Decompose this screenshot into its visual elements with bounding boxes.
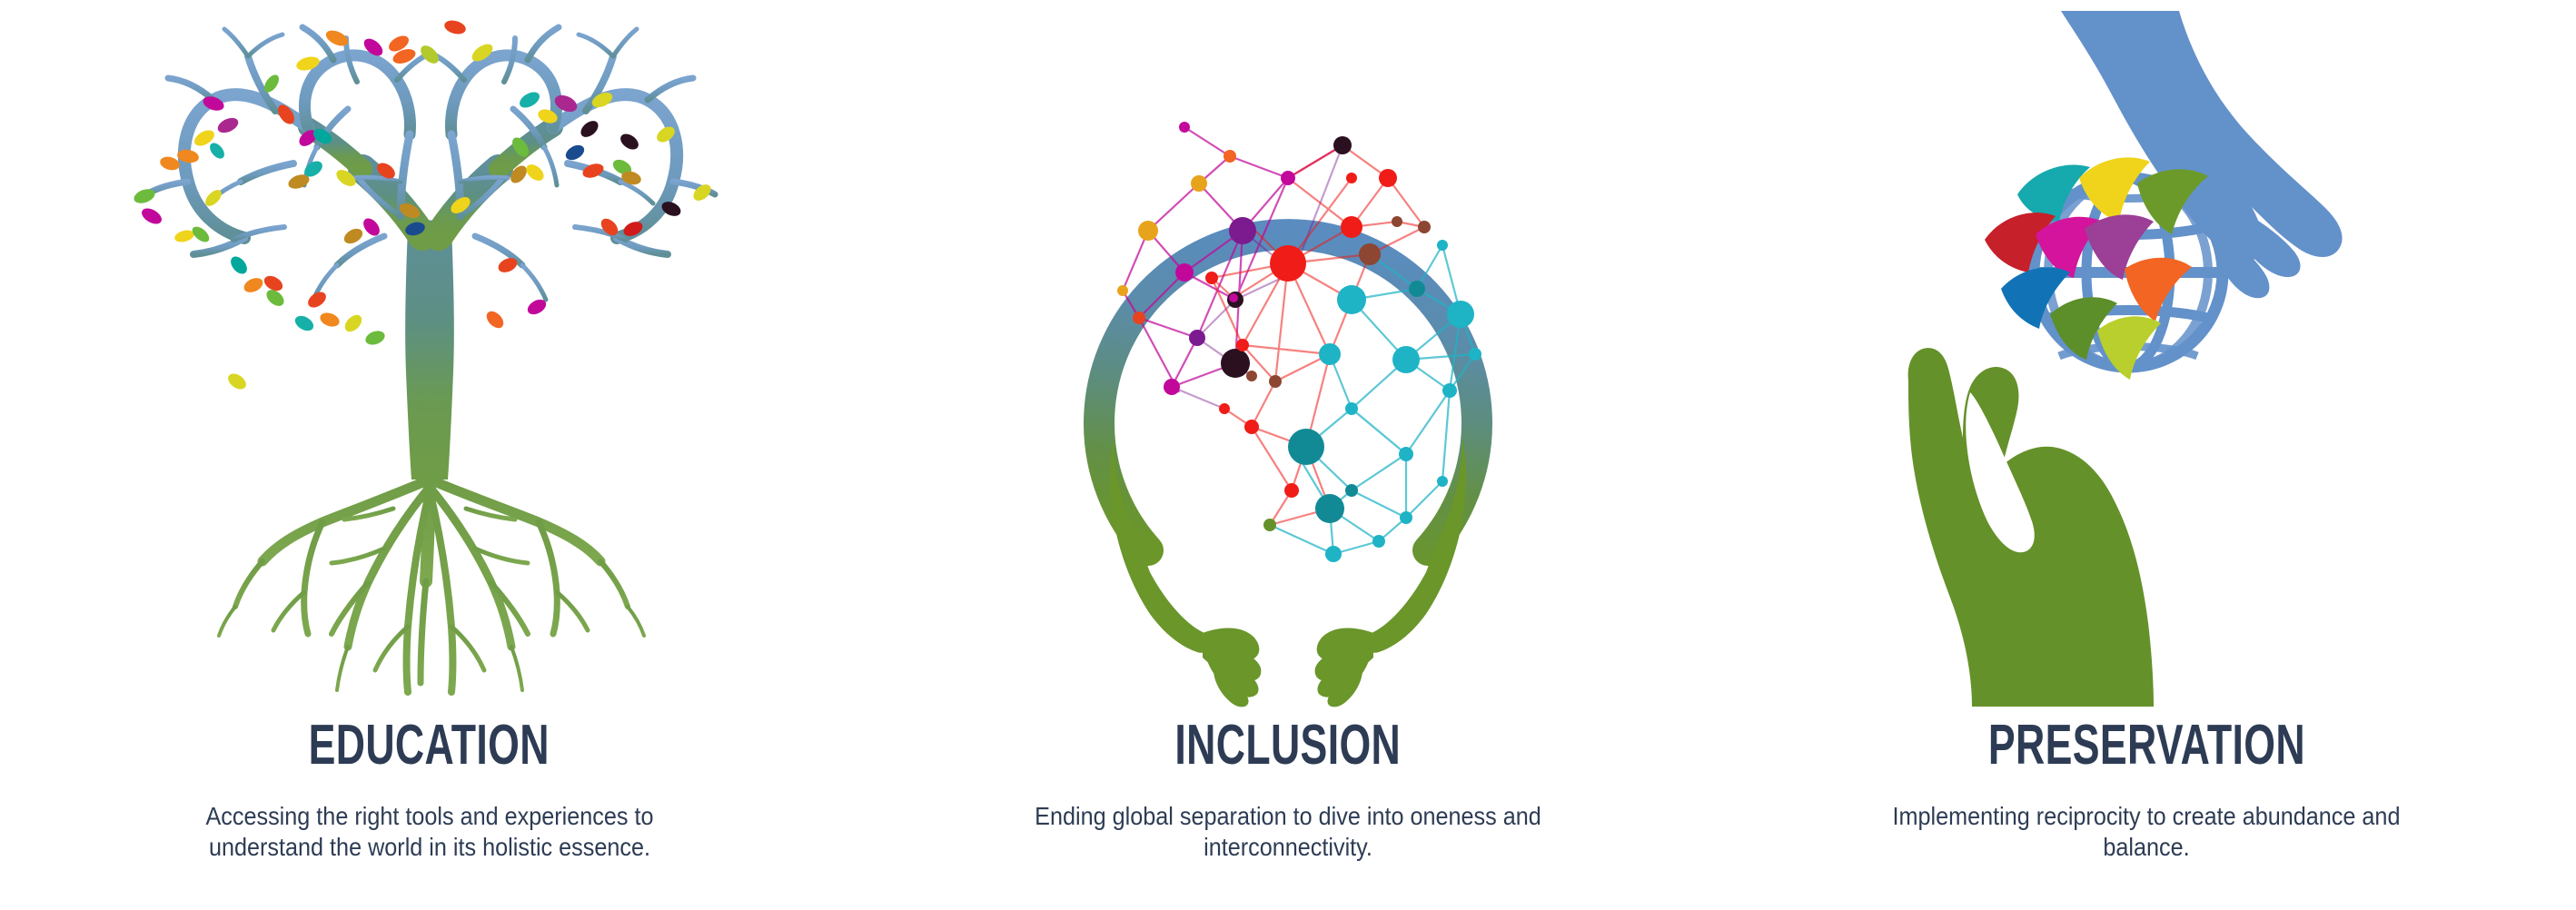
- title-wrap-education: EDUCATION: [0, 717, 858, 781]
- heart-tree-icon: [0, 0, 858, 717]
- tree-trunk: [405, 221, 454, 480]
- pillar-description-inclusion: Ending global separation to dive into on…: [1026, 801, 1550, 863]
- page-title-inclusion: INCLUSION: [1175, 717, 1402, 774]
- pillar-card-education: EDUCATION Accessing the right tools and …: [0, 0, 858, 910]
- pillar-card-inclusion: INCLUSION Ending global separation to di…: [858, 0, 1717, 910]
- heart-tree-illustration: [84, 0, 775, 717]
- title-wrap-preservation: PRESERVATION: [1718, 717, 2576, 781]
- hands-cradling-globe-icon: [1718, 0, 2576, 717]
- left-hand: [1110, 438, 1261, 707]
- values-infographic: EDUCATION Accessing the right tools and …: [0, 0, 2576, 910]
- page-title-education: EDUCATION: [309, 717, 550, 774]
- network-globe-illustration: [970, 0, 1606, 717]
- pillar-description-education: Accessing the right tools and experience…: [168, 801, 691, 863]
- tree-roots: [219, 472, 644, 692]
- pillar-card-preservation: PRESERVATION Implementing reciprocity to…: [1718, 0, 2576, 910]
- network-globe-in-hands-icon: [858, 0, 1717, 717]
- title-wrap-inclusion: INCLUSION: [858, 717, 1717, 781]
- page-title-preservation: PRESERVATION: [1988, 717, 2305, 774]
- network-graph: [1117, 122, 1481, 562]
- green-hand: [1908, 348, 2154, 707]
- pillar-description-preservation: Implementing reciprocity to create abund…: [1885, 801, 2408, 863]
- network-edges-red: [1212, 145, 1424, 525]
- hands-globe-illustration: [1856, 0, 2437, 717]
